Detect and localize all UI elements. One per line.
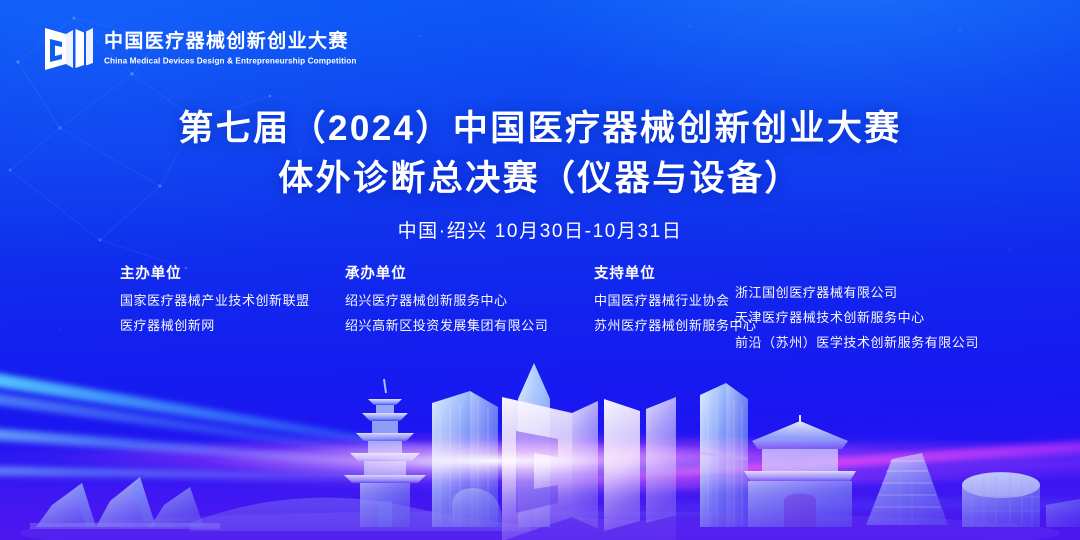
column-heading-host: 主办单位 (120, 262, 310, 283)
logo-title-en: China Medical Devices Design & Entrepren… (104, 55, 356, 67)
event-title-block: 第七届（2024）中国医疗器械创新创业大赛 体外诊断总决赛（仪器与设备） (0, 106, 1080, 202)
page-title-line2: 体外诊断总决赛（仪器与设备） (0, 156, 1080, 202)
organizer-item: 医疗器械创新网 (120, 319, 310, 332)
event-location-date: 中国·绍兴 10月30日-10月31日 (0, 216, 1080, 243)
brand-logo: 中国医疗器械创新创业大赛 China Medical Devices Desig… (40, 18, 356, 74)
organizer-item: 苏州医疗器械创新服务中心 (594, 319, 757, 332)
open-door-emblem-icon (40, 18, 94, 74)
organizer-item: 前沿（苏州）医学技术创新服务有限公司 (735, 336, 979, 349)
organizer-item: 绍兴高新区投资发展集团有限公司 (345, 319, 548, 332)
organizer-column-host: 主办单位 国家医疗器械产业技术创新联盟 医疗器械创新网 (120, 262, 310, 344)
column-heading-organizer: 承办单位 (345, 262, 548, 283)
organizer-item: 中国医疗器械行业协会 (594, 294, 757, 307)
organizer-item: 绍兴医疗器械创新服务中心 (345, 294, 548, 307)
organizer-column-organizer: 承办单位 绍兴医疗器械创新服务中心 绍兴高新区投资发展集团有限公司 (345, 262, 548, 344)
organizer-item: 天津医疗器械技术创新服务中心 (735, 311, 979, 324)
city-skyline-artwork (0, 355, 1080, 540)
organizer-section: 主办单位 国家医疗器械产业技术创新联盟 医疗器械创新网 承办单位 绍兴医疗器械创… (0, 262, 1080, 362)
page-title-line1: 第七届（2024）中国医疗器械创新创业大赛 (0, 106, 1080, 152)
horizon-shadow (0, 390, 1080, 540)
organizer-item: 国家医疗器械产业技术创新联盟 (120, 294, 310, 307)
organizer-item: 浙江国创医疗器械有限公司 (735, 286, 979, 299)
logo-title-cn: 中国医疗器械创新创业大赛 (104, 32, 356, 53)
horizon-glow (0, 384, 1080, 504)
organizer-column-support-secondary: 浙江国创医疗器械有限公司 天津医疗器械技术创新服务中心 前沿（苏州）医学技术创新… (735, 286, 979, 361)
organizer-column-support: 支持单位 中国医疗器械行业协会 苏州医疗器械创新服务中心 (594, 262, 757, 344)
column-heading-support: 支持单位 (594, 262, 757, 283)
poster-canvas: 中国医疗器械创新创业大赛 China Medical Devices Desig… (0, 0, 1080, 540)
